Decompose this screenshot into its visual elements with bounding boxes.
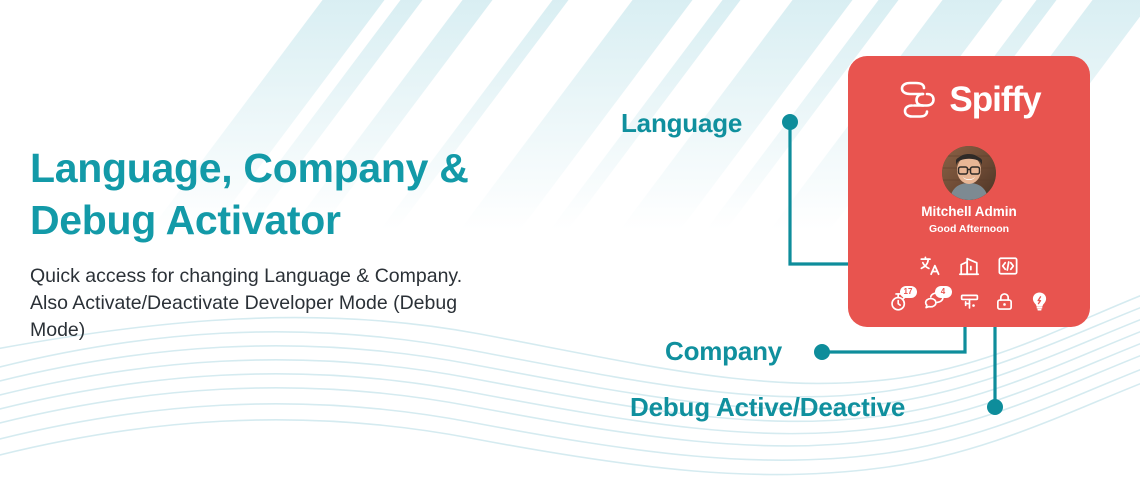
lightbulb-icon[interactable] — [1029, 291, 1050, 312]
spiffy-user-card: Spiffy — [848, 56, 1090, 327]
building-icon[interactable] — [958, 255, 980, 277]
card-primary-icon-row — [848, 254, 1090, 278]
spiffy-paperclip-logo-icon — [897, 79, 939, 121]
avatar — [942, 146, 996, 200]
chat-badge: 4 — [935, 286, 952, 298]
card-secondary-icon-row: 17 4 — [848, 288, 1090, 314]
connector-dot-company — [814, 344, 830, 360]
callout-label-debug: Debug Active/Deactive — [630, 392, 905, 423]
activity-icon[interactable] — [959, 291, 980, 312]
lock-icon[interactable] — [994, 291, 1015, 312]
timer-badge: 17 — [900, 286, 917, 298]
callout-label-company: Company — [665, 336, 782, 367]
user-greeting: Good Afternoon — [848, 223, 1090, 235]
poster-canvas: Language, Company & Debug Activator Quic… — [0, 0, 1140, 500]
user-name: Mitchell Admin — [848, 204, 1090, 219]
code-icon[interactable] — [997, 255, 1019, 277]
translate-icon[interactable] — [919, 255, 941, 277]
connector-dot-debug — [987, 399, 1003, 415]
callout-label-language: Language — [621, 108, 742, 139]
chat-icon[interactable]: 4 — [924, 291, 945, 312]
brand-lockup: Spiffy — [848, 74, 1090, 126]
avatar-photo — [942, 146, 996, 200]
brand-name: Spiffy — [949, 80, 1040, 120]
connector-dot-language — [782, 114, 798, 130]
timer-icon[interactable]: 17 — [889, 291, 910, 312]
